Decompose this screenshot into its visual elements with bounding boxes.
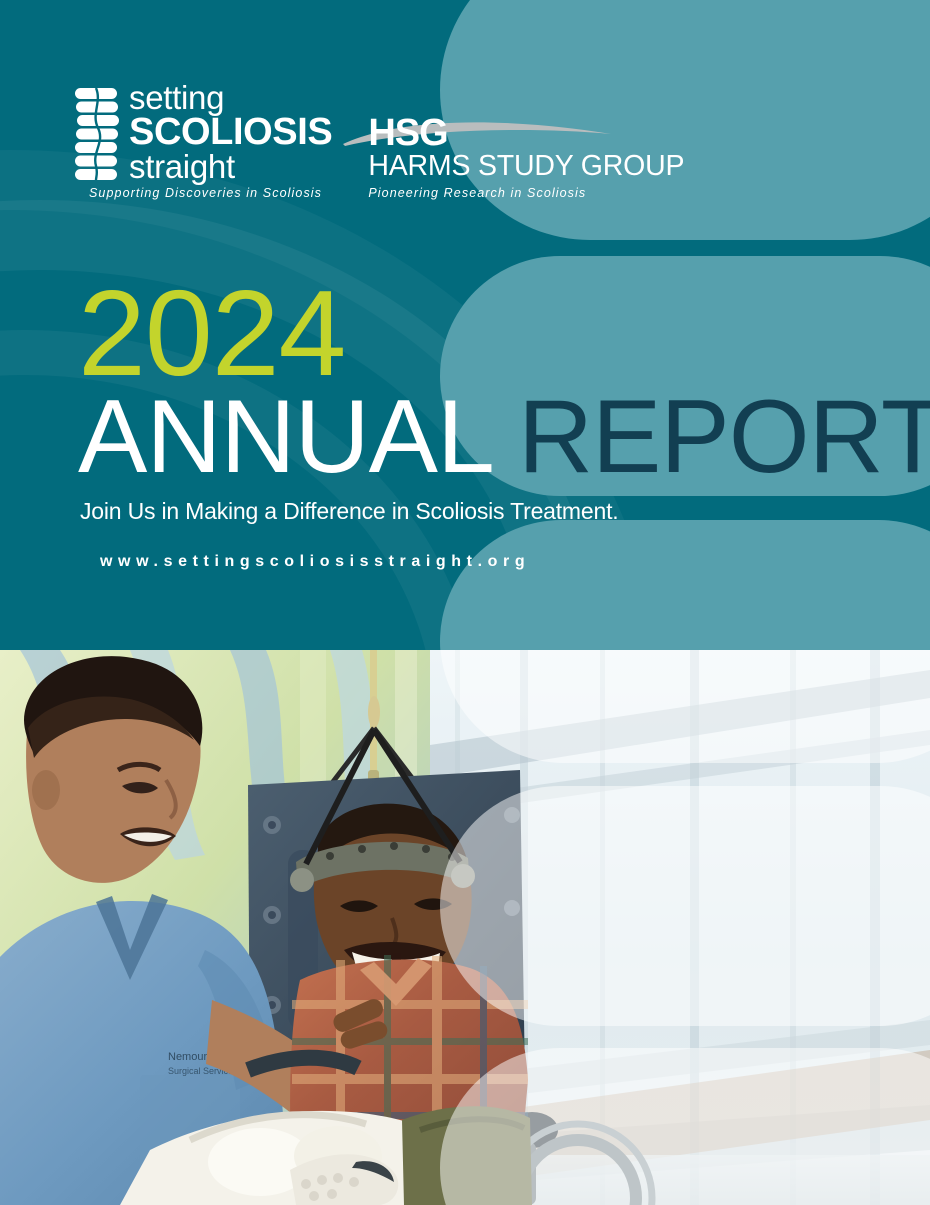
cover-photo: Nemours Surgical Services <box>0 650 930 1205</box>
hero-banner: setting SCOLIOSIS straight Supporting Di… <box>0 0 930 650</box>
logo-line-straight: straight <box>129 151 332 183</box>
logo-lockup: setting SCOLIOSIS straight Supporting Di… <box>75 82 684 200</box>
website-url[interactable]: www.settingscoliosisstraight.org <box>100 553 530 571</box>
title-annual: ANNUAL <box>78 379 490 495</box>
logo-line-scoliosis: SCOLIOSIS <box>129 113 332 151</box>
annual-report-cover-page: setting SCOLIOSIS straight Supporting Di… <box>0 0 930 1205</box>
setting-scoliosis-straight-logo: setting SCOLIOSIS straight Supporting Di… <box>75 82 332 200</box>
setting-scoliosis-straight-tagline: Supporting Discoveries in Scoliosis <box>89 186 332 200</box>
hsg-full-name: HARMS STUDY GROUP <box>368 152 684 182</box>
report-year: 2024 <box>78 272 345 394</box>
hero-subtitle: Join Us in Making a Difference in Scolio… <box>80 498 618 525</box>
page-title: ANNUAL REPORT <box>78 385 930 489</box>
hsg-abbreviation: HSG <box>368 116 684 151</box>
decorative-pill-4-overlay <box>440 786 930 1026</box>
hsg-tagline: Pioneering Research in Scoliosis <box>368 186 684 200</box>
title-report: REPORT <box>518 379 930 495</box>
logo-line-setting: setting <box>129 82 332 113</box>
harms-study-group-logo: HSG HARMS STUDY GROUP Pioneering Researc… <box>368 82 684 200</box>
spine-vertebrae-icon <box>75 82 119 193</box>
decorative-pill-5-overlay <box>440 1048 930 1205</box>
photo-pill-overlays <box>0 650 930 1205</box>
decorative-pill-3-overlay <box>440 650 930 763</box>
decorative-pill-3 <box>440 520 930 650</box>
setting-scoliosis-straight-wordmark: setting SCOLIOSIS straight Supporting Di… <box>129 82 332 200</box>
